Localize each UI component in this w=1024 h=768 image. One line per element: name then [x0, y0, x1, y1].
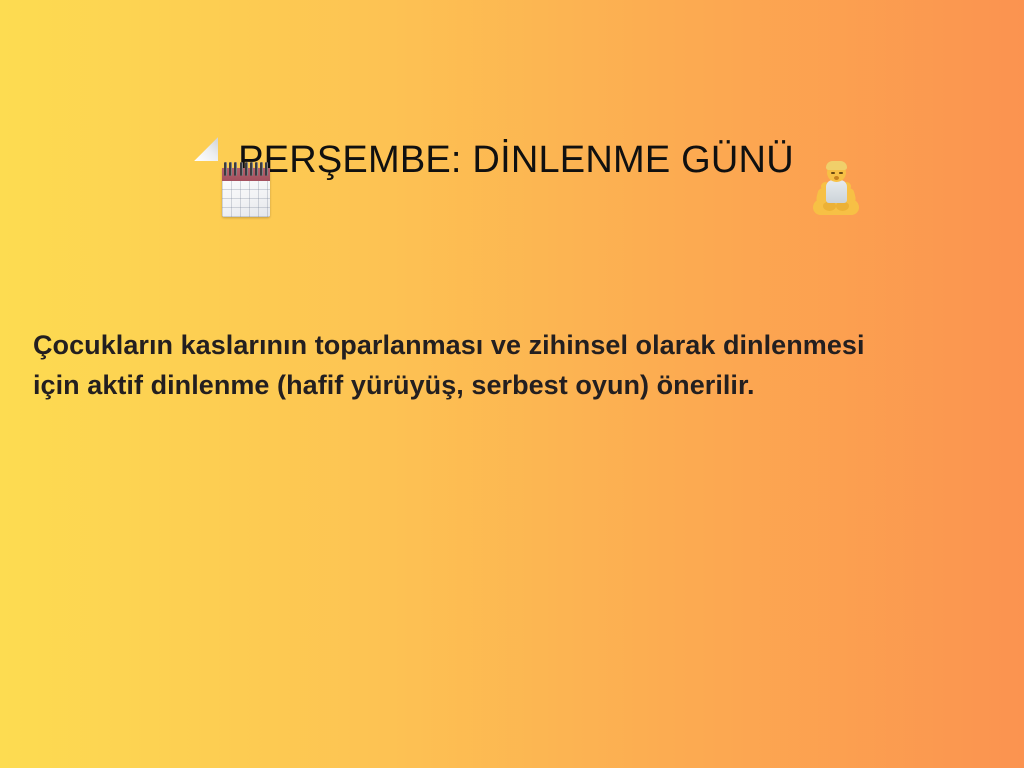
slide-title-text: PERŞEMBE: DİNLENME GÜNÜ — [238, 140, 794, 182]
body-line: Çocukların kaslarının toparlanması ve zi… — [33, 325, 993, 365]
slide-body: Çocukların kaslarının toparlanması ve zi… — [33, 325, 993, 405]
slide-title: PERŞEMBE: DİNLENME GÜNÜ — [0, 124, 1024, 198]
slide-canvas: PERŞEMBE: DİNLENME GÜNÜ Çocukların kasla… — [0, 0, 1024, 768]
body-line: için aktif dinlenme (hafif yürüyüş, serb… — [33, 365, 993, 405]
